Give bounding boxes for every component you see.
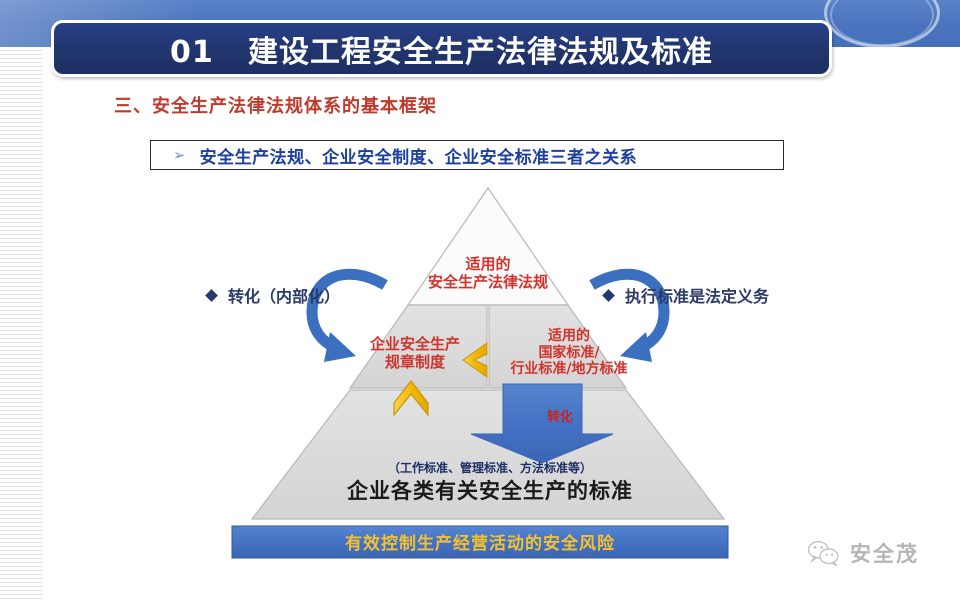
mid-left-line-1: 企业安全生产 [350,336,480,354]
section-heading: 三、安全生产法律法规体系的基本框架 [114,92,437,118]
pyramid-mid-left-label: 企业安全生产 规章制度 [350,336,480,371]
pyramid-apex-label: 适用的 安全生产法律法规 [388,256,588,291]
watermark-brand: 安全茂 [850,538,919,568]
down-arrow-label: 转化 [520,410,600,425]
diamond-bullet-icon [602,289,615,302]
pyramid-diagram [0,0,960,601]
annotation-left-text: 转化（内部化） [228,283,340,307]
apex-line-1: 适用的 [388,256,588,274]
watermark: 安全茂 [806,538,919,568]
annotation-left: 转化（内部化） [207,283,340,307]
slide-title-box: 01 建设工程安全生产法律法规及标准 [51,20,832,77]
apex-line-2: 安全生产法律法规 [388,274,588,292]
diamond-bullet-icon [205,289,218,302]
annotation-right: 执行标准是法定义务 [604,283,769,307]
bullet-arrow-icon: ➢ [173,148,186,163]
slide-canvas: 01 建设工程安全生产法律法规及标准 三、安全生产法律法规体系的基本框架 ➢ 安… [0,0,960,601]
yellow-up-arrow-icon [394,381,428,415]
foundation-bar-label: 有效控制生产经营活动的安全风险 [232,534,728,554]
subtitle-box: ➢ 安全生产法规、企业安全制度、企业安全标准三者之关系 [150,140,784,170]
mid-right-line-1: 适用的 [494,328,644,345]
page-title: 01 建设工程安全生产法律法规及标准 [170,27,713,71]
subtitle-text: 安全生产法规、企业安全制度、企业安全标准三者之关系 [200,143,638,168]
left-stripe-decoration [0,47,42,601]
pyramid-mid-right-label: 适用的 国家标准/ 行业标准/地方标准 [494,328,644,378]
mid-left-line-2: 规章制度 [350,354,480,372]
mid-right-line-3: 行业标准/地方标准 [494,361,644,378]
annotation-right-text: 执行标准是法定义务 [625,283,769,307]
wechat-icon [806,540,842,566]
mid-right-line-2: 国家标准/ [494,345,644,362]
pyramid-base-note: （工作标准、管理标准、方法标准等） [300,461,680,475]
pyramid-base-title: 企业各类有关安全生产的标准 [270,479,710,504]
